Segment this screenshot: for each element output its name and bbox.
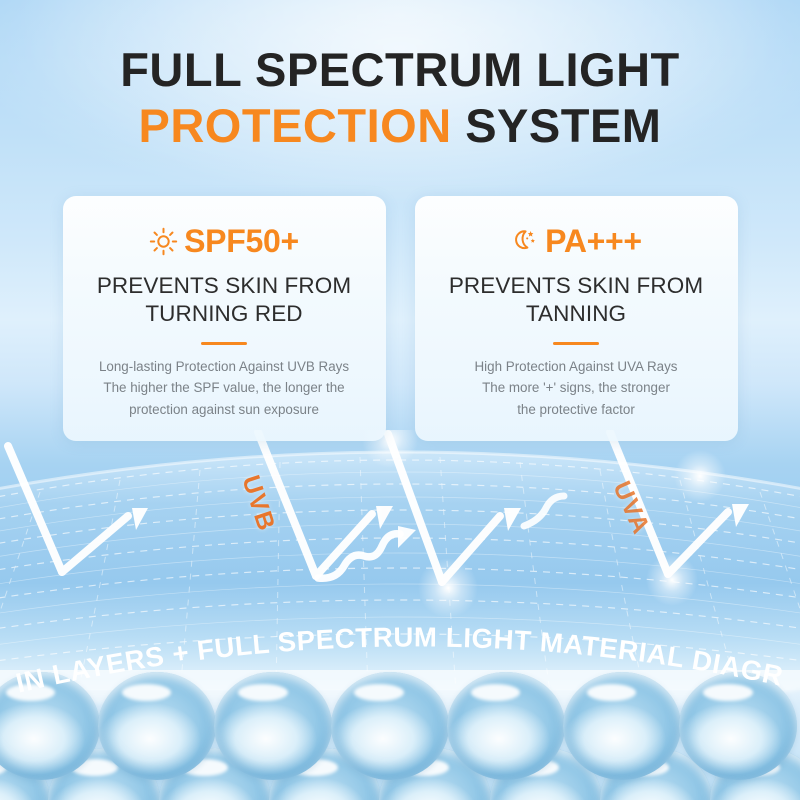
spf-heading-line-1: PREVENTS SKIN FROM (97, 273, 351, 298)
diagram-caption: SKIN LAYERS + FULL SPECTRUM LIGHT MATERI… (0, 600, 800, 710)
moon-stars-icon (510, 227, 539, 256)
spf-body-line-2: The higher the SPF value, the longer the (103, 380, 344, 395)
pa-badge-label: PA+++ (545, 225, 642, 257)
headline-line-2: PROTECTION SYSTEM (0, 102, 800, 150)
pa-card-divider (553, 342, 599, 345)
page-title: FULL SPECTRUM LIGHT PROTECTION SYSTEM (0, 46, 800, 151)
pa-body-line-1: High Protection Against UVA Rays (475, 359, 678, 374)
spf-badge-label: SPF50+ (184, 225, 299, 257)
spf-body-line-3: protection against sun exposure (129, 402, 319, 417)
spf-card-header: SPF50+ (79, 222, 370, 260)
headline-highlight-protection: PROTECTION (139, 99, 452, 152)
headline-line-1: FULL SPECTRUM LIGHT (0, 46, 800, 94)
pa-card-header: PA+++ (431, 222, 722, 260)
spf-body-line-1: Long-lasting Protection Against UVB Rays (99, 359, 349, 374)
protection-cards-row: SPF50+ PREVENTS SKIN FROM TURNING RED Lo… (0, 196, 800, 441)
pa-card-body: High Protection Against UVA Rays The mor… (431, 356, 722, 421)
spf-heading-line-2: TURNING RED (145, 301, 302, 326)
pa-card-heading: PREVENTS SKIN FROM TANNING (431, 272, 722, 329)
sun-icon (149, 227, 178, 256)
pa-heading-line-1: PREVENTS SKIN FROM (449, 273, 703, 298)
spf-card-divider (201, 342, 247, 345)
diagram-caption-text: SKIN LAYERS + FULL SPECTRUM LIGHT MATERI… (0, 600, 786, 699)
spf-card-heading: PREVENTS SKIN FROM TURNING RED (79, 272, 370, 329)
pa-protection-card[interactable]: PA+++ PREVENTS SKIN FROM TANNING High Pr… (415, 196, 738, 441)
spf-card-body: Long-lasting Protection Against UVB Rays… (79, 356, 370, 421)
pa-body-line-2: The more '+' signs, the stronger (482, 380, 670, 395)
pa-heading-line-2: TANNING (526, 301, 626, 326)
headline-line-2-rest: SYSTEM (452, 99, 662, 152)
sunscreen-infographic-poster: FULL SPECTRUM LIGHT PROTECTION SYSTEM (0, 0, 800, 800)
spf-protection-card[interactable]: SPF50+ PREVENTS SKIN FROM TURNING RED Lo… (63, 196, 386, 441)
pa-body-line-3: the protective factor (517, 402, 635, 417)
